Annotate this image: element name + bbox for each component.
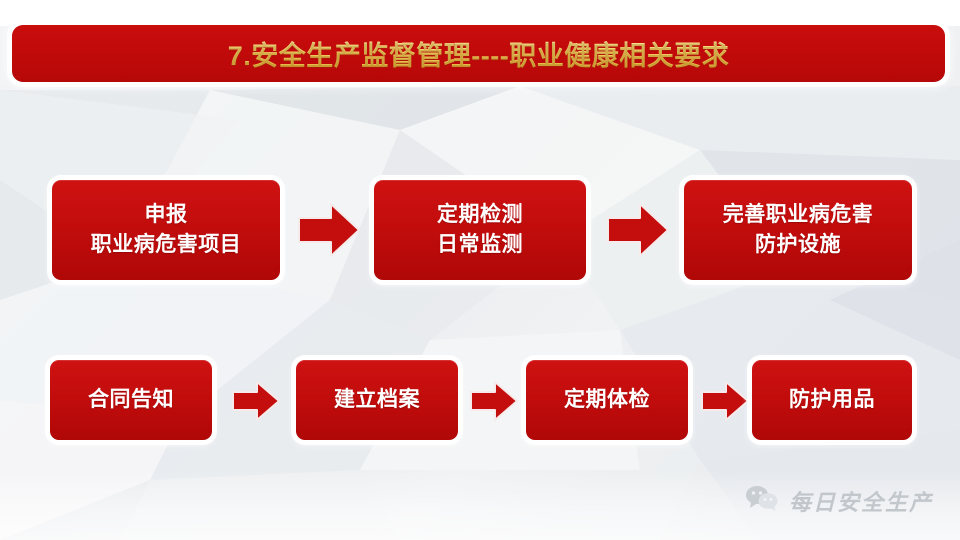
- watermark: 每日安全生产: [745, 484, 933, 517]
- flow-box-detection[interactable]: 定期检测 日常监测: [374, 180, 586, 280]
- flow-arrow-4: [469, 380, 519, 422]
- flow-box-line: 定期体检: [564, 385, 650, 415]
- slide-title-text: 7.安全生产监督管理----职业健康相关要求: [228, 34, 729, 73]
- flow-box-line: 完善职业病危害: [723, 200, 874, 230]
- flow-box-line: 定期检测: [437, 200, 523, 230]
- flow-box-archive[interactable]: 建立档案: [296, 360, 458, 440]
- flow-box-line: 日常监测: [437, 230, 523, 260]
- flow-box-medical-exam[interactable]: 定期体检: [526, 360, 688, 440]
- flow-box-line: 防护用品: [789, 385, 875, 415]
- slide-title-banner: 7.安全生产监督管理----职业健康相关要求: [12, 25, 945, 82]
- wechat-icon: [745, 484, 779, 517]
- slide-canvas: 7.安全生产监督管理----职业健康相关要求 申报 职业病危害项目 定期检测 日…: [0, 0, 960, 540]
- slide-top-white-strip: [0, 0, 960, 26]
- watermark-brand-text: 每日安全生产: [789, 485, 933, 517]
- flow-box-contract-notice[interactable]: 合同告知: [50, 360, 212, 440]
- flow-box-line: 申报: [145, 200, 188, 230]
- flow-arrow-2: [606, 202, 670, 258]
- flow-box-line: 合同告知: [88, 385, 174, 415]
- flow-box-line: 建立档案: [334, 385, 420, 415]
- flow-arrow-5: [700, 380, 750, 422]
- flow-arrow-3: [231, 380, 281, 422]
- flow-box-ppe[interactable]: 防护用品: [752, 360, 912, 440]
- flow-box-line: 职业病危害项目: [91, 230, 242, 260]
- flow-box-declare[interactable]: 申报 职业病危害项目: [52, 180, 280, 280]
- flow-box-facilities[interactable]: 完善职业病危害 防护设施: [684, 180, 912, 280]
- flow-box-line: 防护设施: [755, 230, 841, 260]
- flow-arrow-1: [297, 202, 361, 258]
